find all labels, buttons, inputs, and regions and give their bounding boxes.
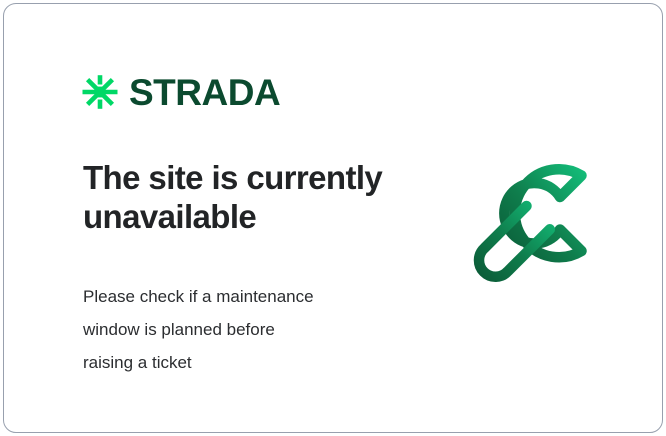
message-block: The site is currently unavailable Please… — [83, 159, 423, 379]
status-card: STRADA The site is currently unavailable… — [3, 3, 663, 433]
page-title: The site is currently unavailable — [83, 159, 423, 237]
wrench-icon — [456, 154, 624, 322]
page-description: Please check if a maintenance window is … — [83, 237, 423, 379]
brand-logo-lockup: STRADA — [80, 72, 280, 112]
status-page: STRADA The site is currently unavailable… — [0, 0, 666, 436]
brand-wordmark: STRADA — [129, 74, 280, 111]
asterisk-star-icon — [80, 72, 120, 112]
